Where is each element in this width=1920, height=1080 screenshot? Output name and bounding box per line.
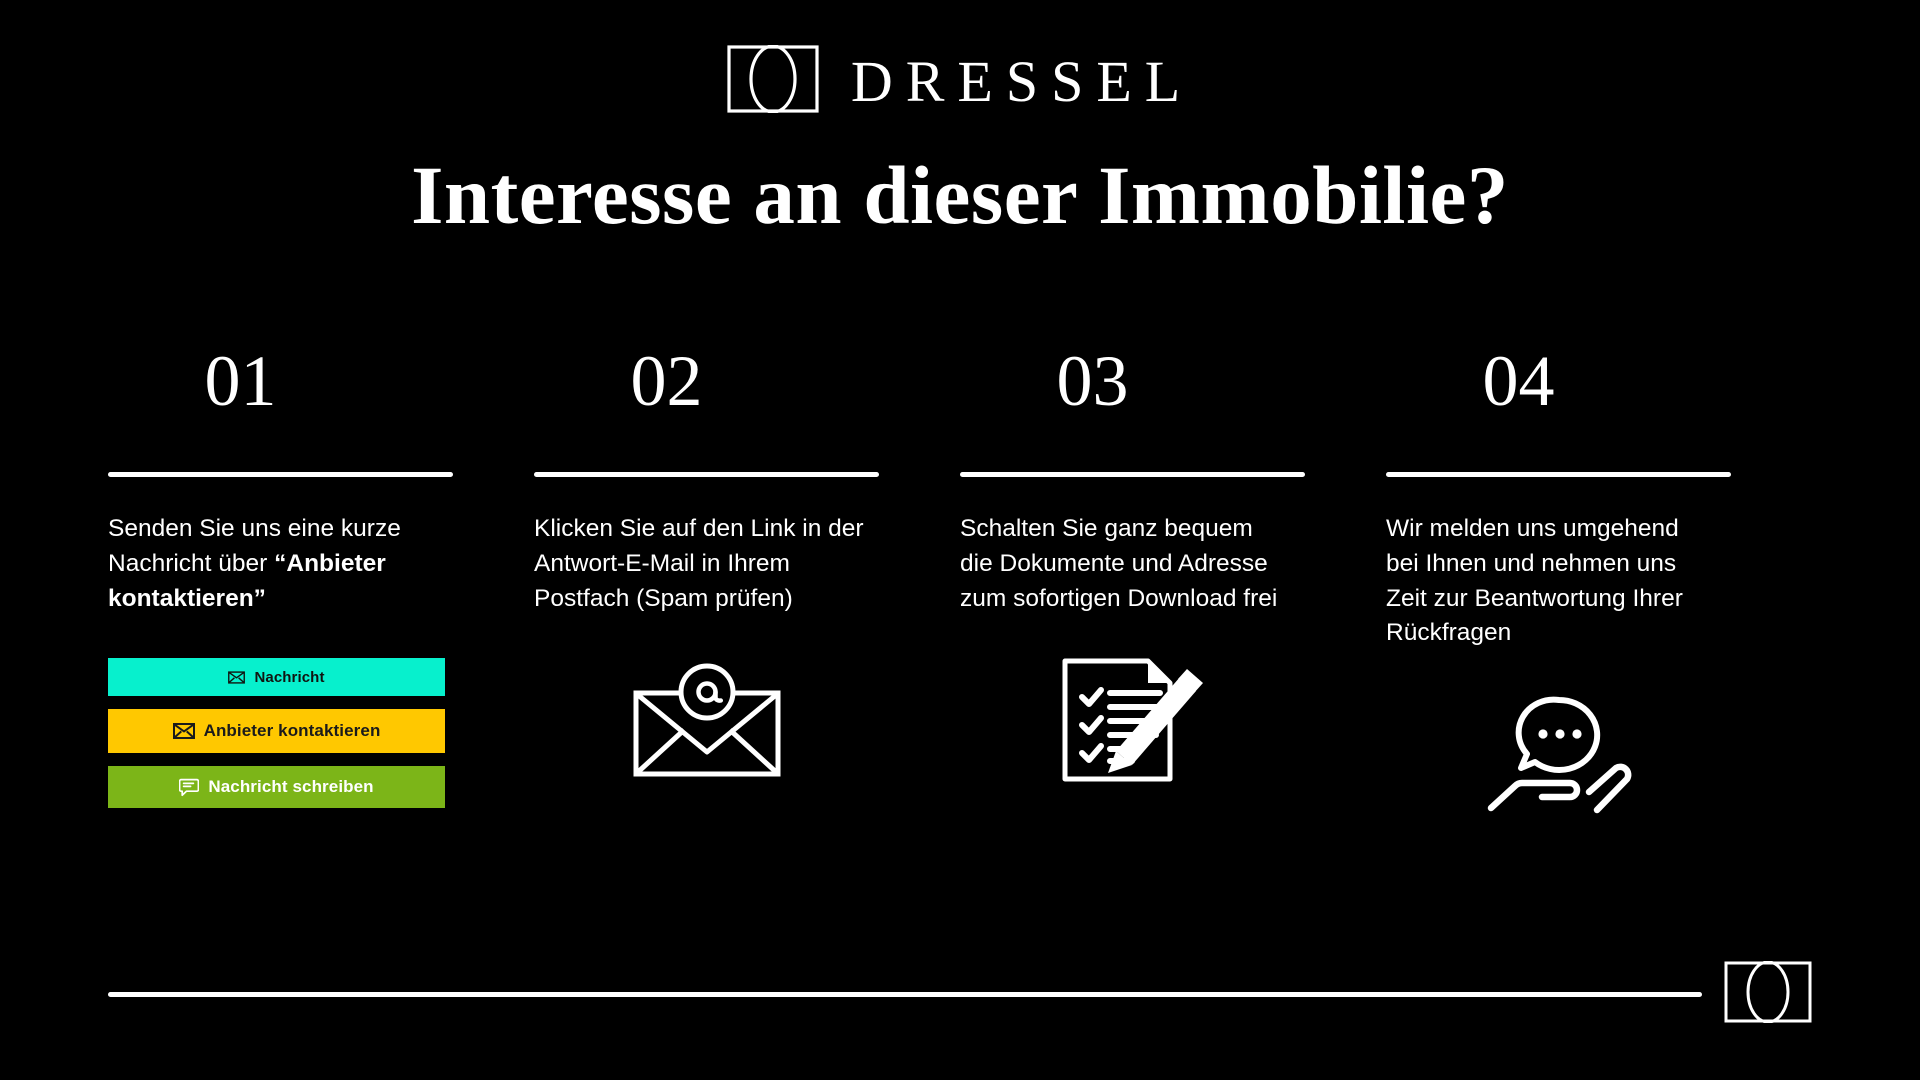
brand-name: DRESSEL <box>845 53 1193 111</box>
page-title: Interesse an dieser Immobilie? <box>0 152 1920 239</box>
step-03: 03 Schalten Sie ganz bequem die Dokument… <box>960 345 1386 780</box>
step-description: Wir melden uns umgehend bei Ihnen und ne… <box>1386 512 1716 651</box>
envelope-icon <box>173 723 195 739</box>
step-description: Senden Sie uns eine kurze Nachricht über… <box>108 512 438 616</box>
step-number: 01 <box>108 345 373 425</box>
checklist-pencil-icon <box>960 660 1305 780</box>
nachricht-schreiben-button-label: Nachricht schreiben <box>208 777 373 797</box>
anbieter-kontaktieren-button[interactable]: Anbieter kontaktieren <box>108 709 445 753</box>
chat-lines-icon <box>179 778 199 797</box>
dressel-logo-mark-icon <box>1724 961 1812 1028</box>
envelope-icon <box>228 671 245 684</box>
step-number: 03 <box>960 345 1225 425</box>
step-divider <box>960 472 1305 477</box>
step-description: Klicken Sie auf den Link in der Antwort-… <box>534 512 864 616</box>
anbieter-kontaktieren-button-label: Anbieter kontaktieren <box>204 721 381 741</box>
step-01: 01 Senden Sie uns eine kurze Nachricht ü… <box>108 345 534 808</box>
step-divider <box>108 472 453 477</box>
step-description: Schalten Sie ganz bequem die Dokumente u… <box>960 512 1290 616</box>
dressel-logo-mark-icon <box>727 45 819 118</box>
step-number: 02 <box>534 345 799 425</box>
step-number: 04 <box>1386 345 1651 425</box>
contact-button-stack: Nachricht Anbieter kontaktieren <box>108 658 445 808</box>
footer-divider <box>108 992 1702 997</box>
chat-bubble-hand-icon <box>1386 695 1731 815</box>
nachricht-button-label: Nachricht <box>254 669 324 686</box>
step-divider <box>1386 472 1731 477</box>
step-divider <box>534 472 879 477</box>
footer <box>108 961 1812 1028</box>
steps-row: 01 Senden Sie uns eine kurze Nachricht ü… <box>108 345 1812 815</box>
step-04: 04 Wir melden uns umgehend bei Ihnen und… <box>1386 345 1812 815</box>
nachricht-button[interactable]: Nachricht <box>108 658 445 696</box>
nachricht-schreiben-button[interactable]: Nachricht schreiben <box>108 766 445 808</box>
brand-header: DRESSEL <box>0 45 1920 118</box>
step-02: 02 Klicken Sie auf den Link in der Antwo… <box>534 345 960 780</box>
envelope-at-icon <box>534 660 879 780</box>
slide-root: DRESSEL Interesse an dieser Immobilie? 0… <box>0 0 1920 1080</box>
